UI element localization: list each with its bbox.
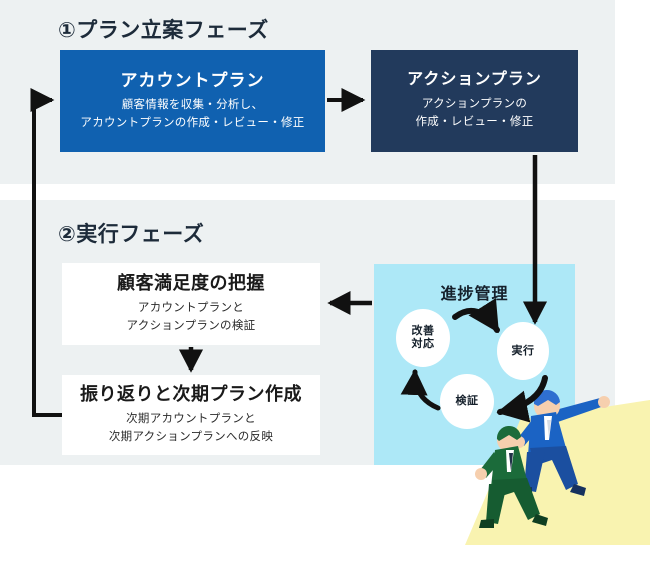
phase-title-execution: ②実行フェーズ [58, 218, 204, 248]
diagram-canvas: ①プラン立案フェーズ ②実行フェーズ アカウントプラン 顧客情報を収集・分析し、… [0, 0, 650, 578]
box-review-next-plan-line-2: 次期アクションプランへの反映 [109, 429, 273, 447]
box-action-plan-line-2: 作成・レビュー・修正 [416, 114, 534, 132]
cycle-node-kaizen-line-1: 改善 [412, 325, 435, 337]
box-account-plan[interactable]: アカウントプラン 顧客情報を収集・分析し、 アカウントプランの作成・レビュー・修… [60, 50, 325, 152]
progress-management-title: 進捗管理 [374, 280, 575, 304]
box-review-next-plan-line-1: 次期アカウントプランと [126, 411, 256, 429]
cycle-node-jikkou[interactable]: 実行 [497, 322, 549, 380]
box-customer-satisfaction[interactable]: 顧客満足度の把握 アカウントプランと アクションプランの検証 [62, 263, 320, 345]
phase-title-plan: ①プラン立案フェーズ [58, 14, 269, 44]
box-review-next-plan[interactable]: 振り返りと次期プラン作成 次期アカウントプランと 次期アクションプランへの反映 [62, 375, 320, 455]
box-review-next-plan-title: 振り返りと次期プラン作成 [80, 383, 302, 406]
cycle-node-kaizen-line-2: 対応 [412, 338, 435, 350]
box-action-plan-line-1: アクションプランの [422, 96, 527, 114]
box-customer-satisfaction-line-2: アクションプランの検証 [127, 318, 256, 336]
cycle-node-jikkou-label: 実行 [512, 345, 535, 358]
cycle-node-kaizen[interactable]: 改善 対応 [396, 309, 450, 367]
box-account-plan-line-2: アカウントプランの作成・レビュー・修正 [80, 115, 304, 133]
cycle-node-kenshou-label: 検証 [456, 395, 479, 408]
cycle-node-kenshou[interactable]: 検証 [440, 374, 494, 429]
box-customer-satisfaction-title: 顧客満足度の把握 [117, 272, 265, 295]
box-action-plan-title: アクションプラン [407, 70, 542, 90]
box-action-plan[interactable]: アクションプラン アクションプランの 作成・レビュー・修正 [371, 50, 578, 152]
box-customer-satisfaction-line-1: アカウントプランと [138, 300, 244, 318]
box-account-plan-title: アカウントプラン [121, 70, 265, 91]
box-account-plan-line-1: 顧客情報を収集・分析し、 [122, 97, 264, 115]
